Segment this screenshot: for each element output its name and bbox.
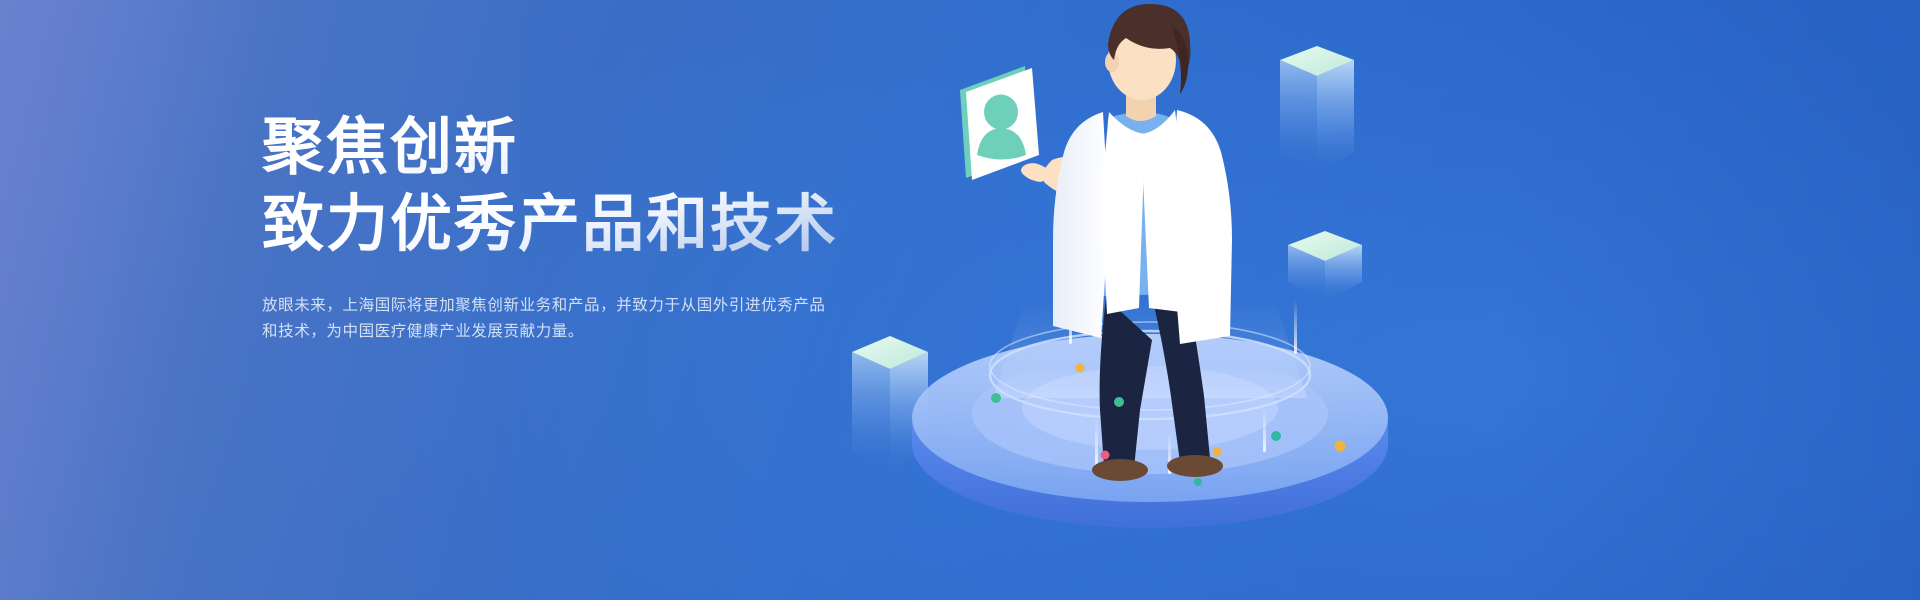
banner-description: 放眼未来，上海国际将更加聚焦创新业务和产品，并致力于从国外引进优秀产品 和技术，… xyxy=(262,293,852,345)
profile-card xyxy=(960,66,1039,180)
particle xyxy=(1101,451,1110,460)
block-mid-right xyxy=(1288,231,1362,300)
hero-banner: 聚焦创新 致力优秀产品和技术 放眼未来，上海国际将更加聚焦创新业务和产品，并致力… xyxy=(0,0,1920,600)
headline-line-1: 聚焦创新 xyxy=(262,108,902,189)
particle xyxy=(1271,431,1281,441)
particle xyxy=(1114,397,1124,407)
banner-copy: 聚焦创新 致力优秀产品和技术 放眼未来，上海国际将更加聚焦创新业务和产品，并致力… xyxy=(262,108,902,345)
particle xyxy=(1194,478,1202,486)
particle xyxy=(1213,448,1222,457)
headline-line-2: 致力优秀产品和技术 xyxy=(262,185,902,266)
particle xyxy=(1076,364,1085,373)
particle xyxy=(1335,441,1346,452)
hero-illustration xyxy=(820,0,1920,600)
particle xyxy=(991,393,1001,403)
block-top-right xyxy=(1280,46,1354,172)
shoe-left xyxy=(1092,459,1148,481)
description-line-1: 放眼未来，上海国际将更加聚焦创新业务和产品，并致力于从国外引进优秀产品 xyxy=(262,293,852,319)
shoe-right xyxy=(1167,455,1223,477)
description-line-2: 和技术，为中国医疗健康产业发展贡献力量。 xyxy=(262,319,852,345)
